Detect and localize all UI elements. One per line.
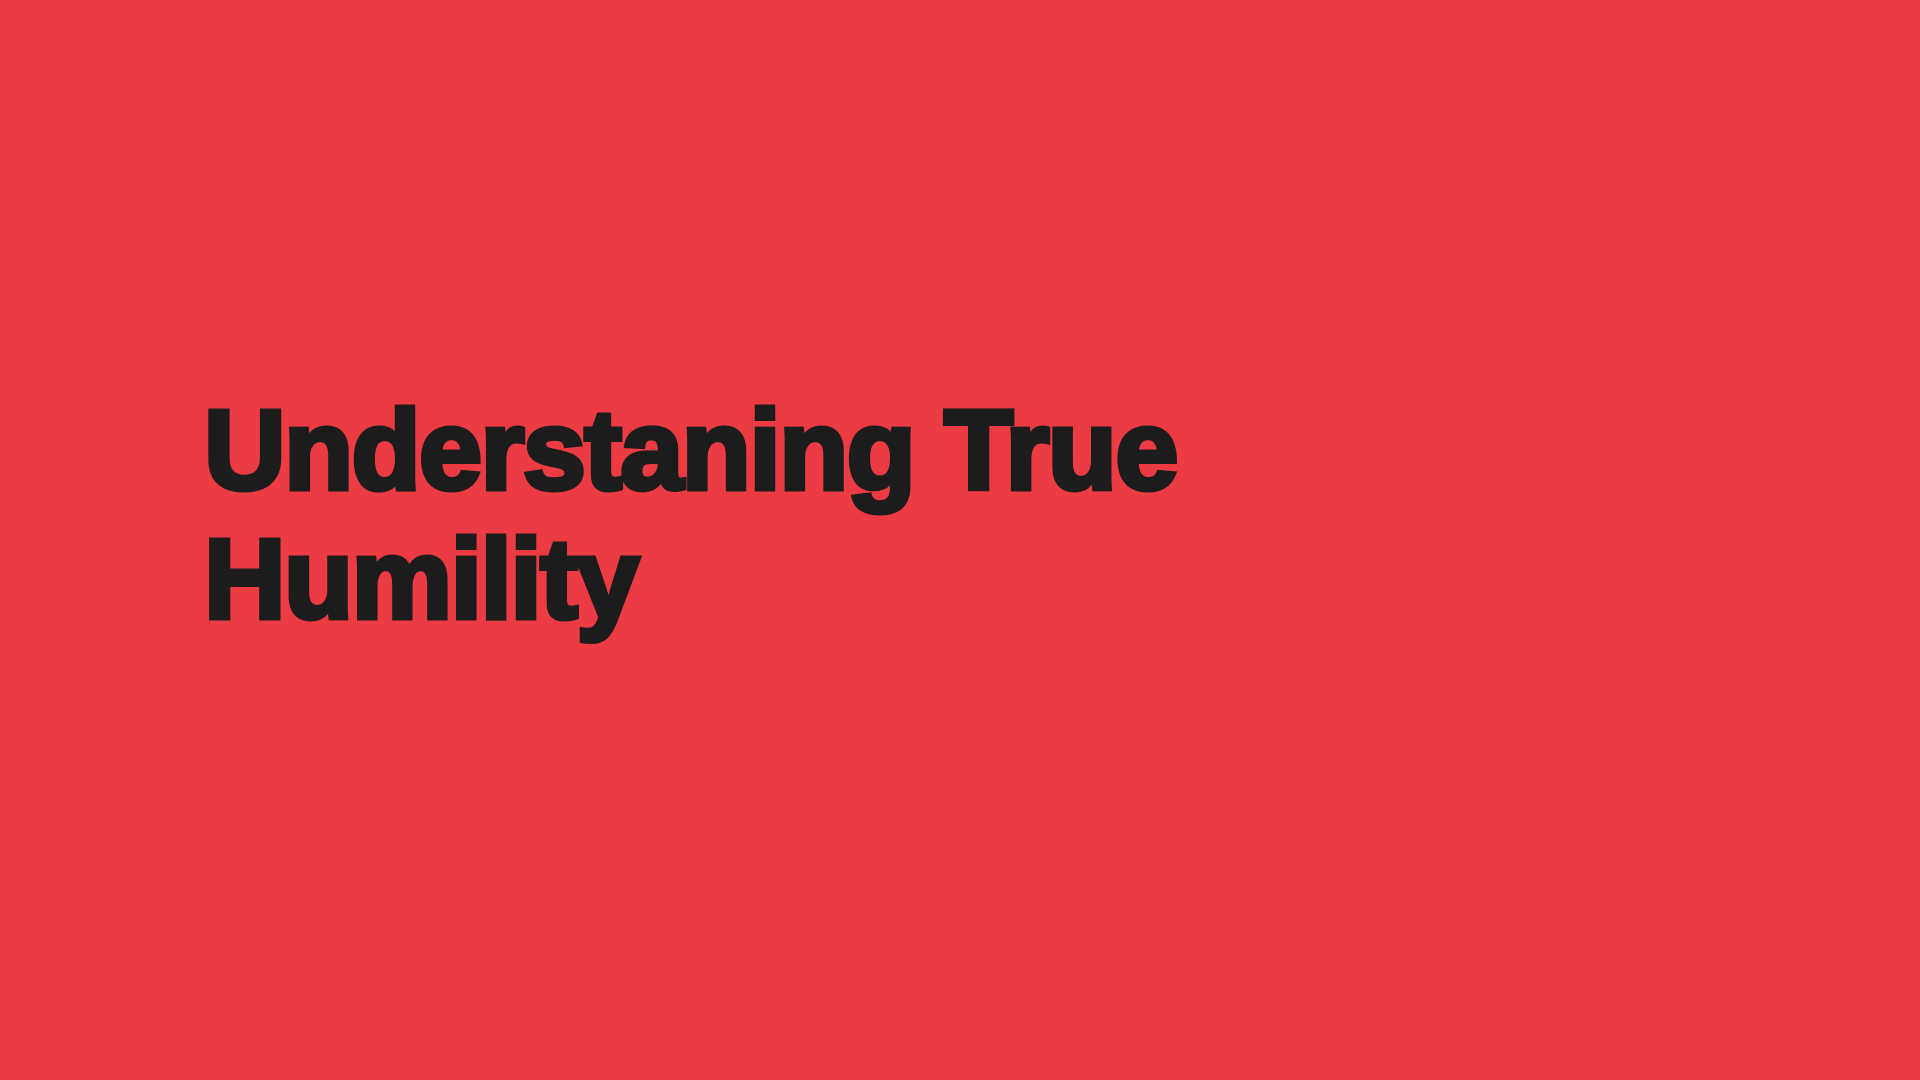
slide-canvas: Understaning True Humility bbox=[0, 0, 1920, 1080]
page-title-line-2: Humility bbox=[204, 515, 1804, 644]
page-title: Understaning True Humility bbox=[204, 386, 1804, 644]
page-title-line-1: Understaning True bbox=[204, 386, 1804, 515]
